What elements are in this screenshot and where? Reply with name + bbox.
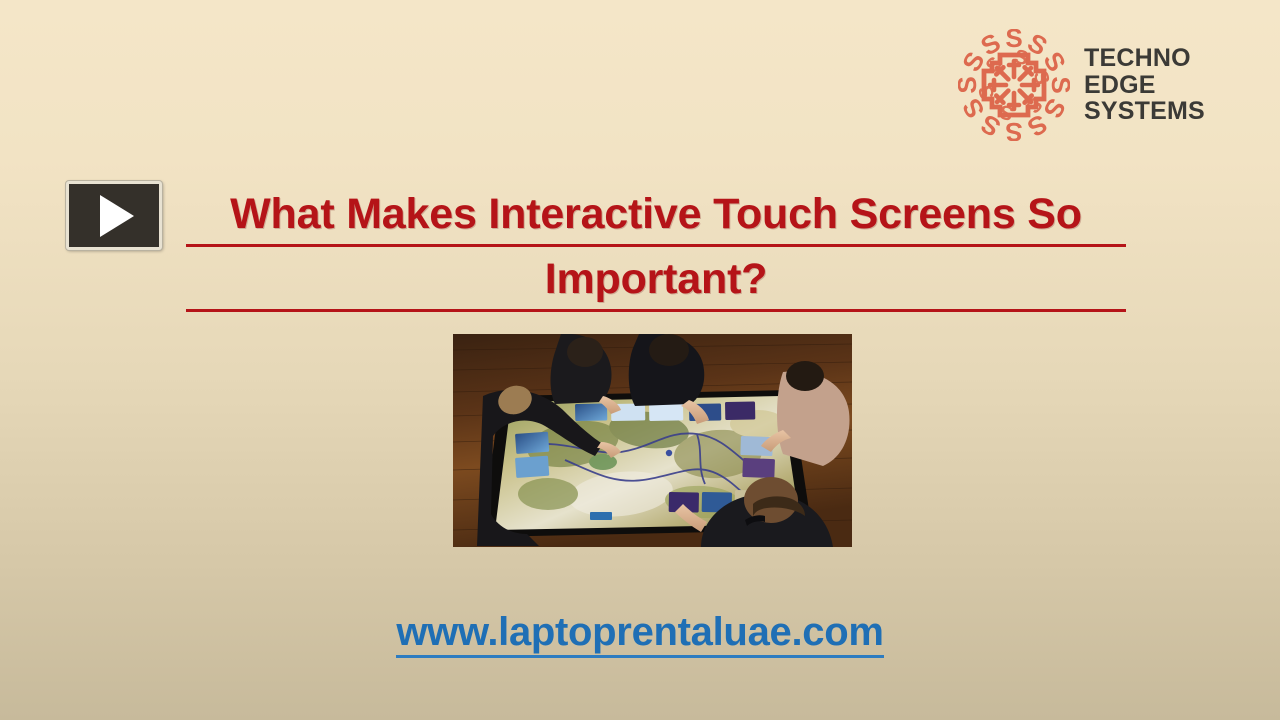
techno-edge-systems-mandala-logo-icon: S S S S S S S S S S S S S S S [958,29,1070,141]
brand-logo-block: S S S S S S S S S S S S S S S [958,26,1208,144]
brand-line-edge: EDGE [1084,72,1205,99]
play-triangle-icon [100,195,134,237]
brand-line-systems: SYSTEMS [1084,98,1205,125]
website-url-text: www.laptoprentaluae.com [396,610,883,658]
page-title-line-1: What Makes Interactive Touch Screens So [186,186,1126,247]
website-url-link[interactable]: www.laptoprentaluae.com [240,608,1040,656]
page-title-line-2: Important? [186,251,1126,312]
page-title: What Makes Interactive Touch Screens So … [186,186,1126,312]
brand-line-techno: TECHNO [1084,45,1205,72]
interactive-touch-table-photo [453,334,852,547]
presentation-slide: S S S S S S S S S S S S S S S [0,0,1280,720]
brand-wordmark: TECHNO EDGE SYSTEMS [1084,45,1205,125]
play-video-button[interactable] [66,181,162,250]
